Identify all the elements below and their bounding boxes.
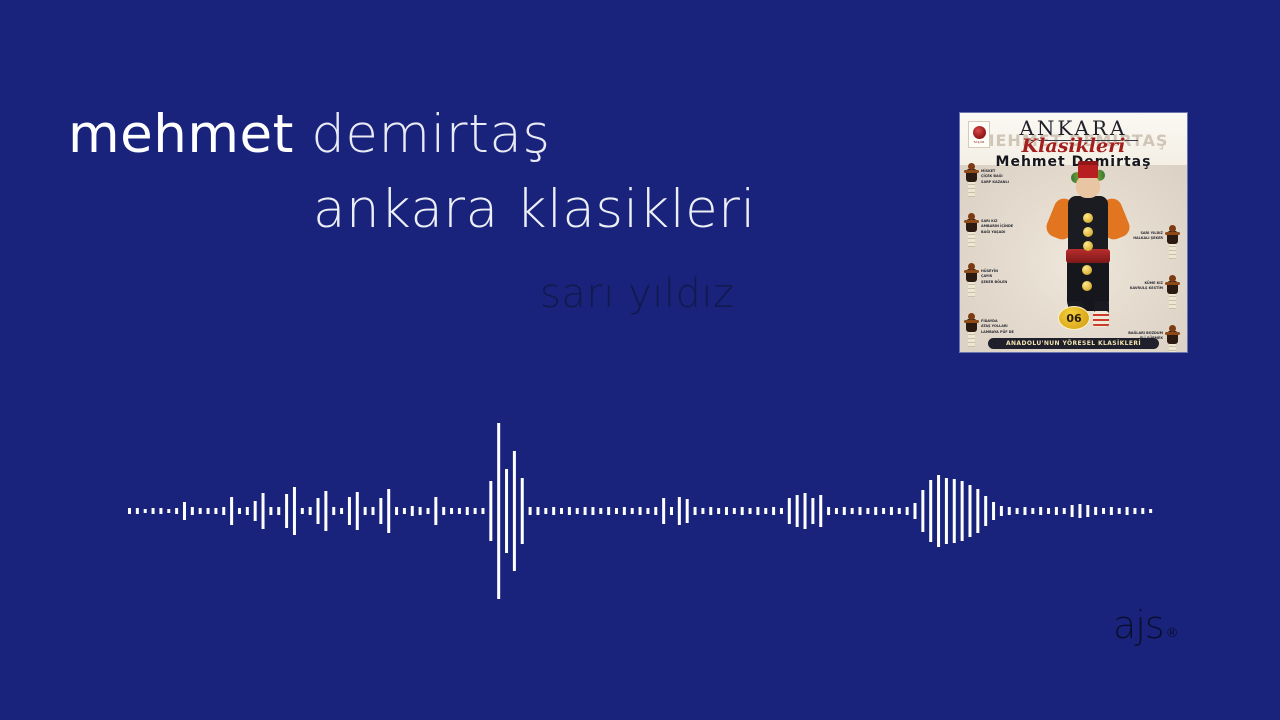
waveform-bar	[756, 507, 759, 515]
track-title: sarı yıldız	[0, 274, 800, 314]
waveform-bar	[317, 498, 320, 524]
waveform-bar	[1102, 508, 1105, 514]
mini-dancer-icon	[964, 263, 979, 297]
album-art-track-entry: MİSKETÇİÇEK BAĞISARP KAZANLI	[964, 163, 1026, 197]
dancer-head	[1076, 175, 1100, 198]
waveform-bar	[733, 508, 736, 514]
waveform-bar	[207, 508, 210, 514]
waveform-bar	[222, 507, 225, 515]
brand-logo-text: ajs	[1113, 606, 1164, 644]
album-art-tracklist-right: SARI YILDIZHALKALI ŞEKERKÜME KIZKAVRULŞ …	[1116, 225, 1182, 352]
dancer-coin-icon	[1083, 213, 1093, 223]
waveform-bar	[937, 475, 940, 547]
dancer-coin-icon	[1082, 281, 1092, 291]
dancer-fez-top	[1078, 161, 1098, 165]
waveform-bar	[536, 507, 539, 515]
waveform-bar	[804, 493, 807, 529]
waveform-bar	[1000, 506, 1003, 516]
waveform-bar	[843, 507, 846, 515]
waveform-bar	[662, 498, 665, 524]
waveform-bar	[780, 508, 783, 514]
waveform-bar	[607, 507, 610, 515]
album-art-track-text: SARI YILDIZHALKALI ŞEKER	[1133, 225, 1165, 242]
waveform-bar	[552, 507, 555, 515]
artist-name-line: mehmet demirtaş	[0, 108, 800, 161]
album-art-track-text: HÜSEYİNÇAYIRŞEKER BÖLEN	[981, 263, 1007, 285]
waveform-bar	[434, 497, 437, 525]
dancer-fez	[1078, 163, 1098, 178]
waveform-bar	[136, 508, 139, 514]
waveform-bar	[945, 478, 948, 544]
waveform-bar	[340, 508, 343, 514]
waveform-bar	[866, 508, 869, 514]
waveform-bar	[725, 507, 728, 515]
waveform-bar	[159, 508, 162, 514]
mini-dancer-icon	[1165, 325, 1180, 352]
waveform-bar	[513, 451, 516, 571]
waveform-bar	[411, 506, 414, 516]
waveform-bar	[1110, 507, 1113, 515]
waveform-bar	[811, 498, 814, 524]
waveform-bar	[372, 507, 375, 515]
album-art-track-text: FİDAYDAATAŞ YOLLARILAMBAYA PÜF DE	[981, 313, 1014, 335]
waveform-bar	[701, 508, 704, 514]
waveform-bar	[474, 508, 477, 514]
waveform-bar	[694, 507, 697, 515]
waveform-bar	[395, 507, 398, 515]
waveform-bar	[576, 508, 579, 514]
waveform-bar	[505, 469, 508, 553]
waveform-bar	[1008, 507, 1011, 515]
waveform-bar	[277, 507, 280, 515]
waveform-bar	[466, 507, 469, 515]
album-art-track-entry: SARI YILDIZHALKALI ŞEKER	[1116, 225, 1182, 259]
dancer-coin-icon	[1083, 227, 1093, 237]
waveform-bar	[639, 507, 642, 515]
album-art-tracklist-left: MİSKETÇİÇEK BAĞISARP KAZANLISARI KIZAMBA…	[964, 163, 1026, 352]
album-art-track-entry: HÜSEYİNÇAYIRŞEKER BÖLEN	[964, 263, 1026, 297]
dancer-sash	[1066, 249, 1110, 263]
waveform-bar	[953, 479, 956, 543]
waveform-bar	[968, 485, 971, 537]
waveform-bar	[214, 508, 217, 514]
waveform-bar	[191, 507, 194, 515]
waveform-bar	[976, 489, 979, 533]
dancer-coin-icon	[1082, 265, 1092, 275]
waveform-bar	[1086, 505, 1089, 517]
waveform-bar	[1133, 508, 1136, 514]
waveform-bar	[827, 507, 830, 515]
waveform-bar	[450, 508, 453, 514]
waveform-bar-group	[128, 423, 1152, 599]
waveform-bar	[238, 508, 241, 514]
waveform-bar	[1039, 507, 1042, 515]
waveform-bar	[489, 481, 492, 541]
waveform-bar	[835, 508, 838, 514]
waveform-bar	[599, 508, 602, 514]
waveform-bar	[199, 508, 202, 514]
waveform-bar	[301, 508, 304, 514]
waveform-bar	[419, 507, 422, 515]
waveform-bar	[717, 508, 720, 514]
album-art-track-text: KÜME KIZKAVRULŞ KESTİM	[1130, 275, 1165, 292]
waveform-bar	[1126, 507, 1129, 515]
waveform-bar	[364, 507, 367, 515]
waveform-bar	[1016, 508, 1019, 514]
waveform-bar	[293, 487, 296, 535]
waveform-bar	[128, 508, 131, 514]
registered-trademark-icon: ®	[1166, 626, 1179, 641]
waveform-bar	[387, 489, 390, 533]
waveform-bar	[686, 499, 689, 523]
artist-last-name: demirtaş	[311, 104, 550, 165]
album-art-track-entry: SARI KIZAMBARIN İÇİNDEBAĞI YAŞADI	[964, 213, 1026, 247]
mini-dancer-icon	[964, 213, 979, 247]
album-art-track-entry: KÜME KIZKAVRULŞ KESTİM	[1116, 275, 1182, 309]
waveform-bar	[1063, 508, 1066, 514]
waveform-bar	[921, 490, 924, 532]
player-stage: mehmet demirtaş ankara klasikleri sarı y…	[0, 0, 1280, 720]
brand-logo[interactable]: ajs ®	[1113, 606, 1179, 644]
waveform-bar	[144, 509, 147, 513]
album-art-bottom-banner: ANADOLU'NUN YÖRESEL KLASİKLERİ	[988, 338, 1159, 349]
waveform-bar	[788, 498, 791, 524]
album-art-track-text: SARI KIZAMBARIN İÇİNDEBAĞI YAŞADI	[981, 213, 1013, 235]
waveform-bar	[458, 508, 461, 514]
waveform-bar	[772, 507, 775, 515]
waveform-bar	[309, 507, 312, 515]
mini-dancer-icon	[1165, 225, 1180, 259]
waveform-bar	[914, 503, 917, 519]
waveform-bar	[749, 508, 752, 514]
album-art-track-text: MİSKETÇİÇEK BAĞISARP KAZANLI	[981, 163, 1009, 185]
waveform-bar	[167, 509, 170, 513]
waveform-bar	[497, 423, 500, 599]
dancer-sock	[1093, 311, 1109, 327]
waveform-bar	[1071, 505, 1074, 517]
waveform-bar	[442, 507, 445, 515]
waveform-bar	[741, 507, 744, 515]
waveform-bar	[631, 508, 634, 514]
waveform-bar	[544, 508, 547, 514]
mini-dancer-icon	[964, 163, 979, 197]
waveform-bar	[984, 496, 987, 526]
waveform-bar	[819, 495, 822, 527]
waveform-bar	[874, 507, 877, 515]
waveform-bar	[246, 507, 249, 515]
waveform-bar	[356, 492, 359, 530]
waveform-bar	[1118, 508, 1121, 514]
waveform-bar	[285, 494, 288, 528]
waveform-bar	[796, 495, 799, 527]
waveform-bar	[175, 508, 178, 514]
waveform-bar	[403, 508, 406, 514]
waveform-bar	[764, 508, 767, 514]
waveform-bar	[890, 507, 893, 515]
waveform-bar	[670, 507, 673, 515]
album-art-disc-number: 06	[1058, 306, 1090, 330]
waveform-bar	[1141, 508, 1144, 514]
waveform-bar	[898, 508, 901, 514]
waveform-bar	[678, 497, 681, 525]
title-block: mehmet demirtaş ankara klasikleri sarı y…	[0, 108, 800, 314]
waveform-bar	[882, 508, 885, 514]
waveform-bar	[348, 497, 351, 525]
artist-first-name: mehmet	[68, 104, 294, 165]
waveform-bar	[623, 507, 626, 515]
waveform-bar	[1023, 507, 1026, 515]
waveform-bar	[426, 508, 429, 514]
waveform-bar	[481, 508, 484, 514]
waveform-bar	[1078, 504, 1081, 518]
waveform-bar	[615, 508, 618, 514]
waveform-bar	[152, 508, 155, 514]
waveform-bar	[961, 481, 964, 541]
dancer-coin-icon	[1083, 241, 1093, 251]
waveform-bar	[709, 507, 712, 515]
waveform-bar	[568, 507, 571, 515]
waveform-bar	[262, 493, 265, 529]
waveform-bar	[560, 508, 563, 514]
waveform-bar	[1047, 508, 1050, 514]
waveform-bar	[851, 508, 854, 514]
album-title: ankara klasikleri	[0, 183, 800, 236]
waveform-bar	[992, 502, 995, 520]
waveform-bar	[269, 507, 272, 515]
waveform-bar	[906, 507, 909, 515]
waveform-bar	[1031, 508, 1034, 514]
waveform-bar	[1149, 509, 1152, 513]
waveform-bar	[654, 507, 657, 515]
waveform-bar	[324, 491, 327, 531]
waveform-bar	[591, 507, 594, 515]
waveform-bar	[332, 507, 335, 515]
waveform-bar	[859, 507, 862, 515]
mini-dancer-icon	[964, 313, 979, 347]
waveform-bar	[529, 507, 532, 515]
waveform-bar	[929, 480, 932, 542]
waveform-bar	[1055, 507, 1058, 515]
waveform-bar	[254, 501, 257, 521]
waveform-bar	[584, 507, 587, 515]
waveform-bar	[183, 502, 186, 520]
mini-dancer-icon	[1165, 275, 1180, 309]
waveform-bar	[230, 497, 233, 525]
waveform-bar	[521, 478, 524, 544]
waveform-bar	[379, 498, 382, 524]
waveform-bar	[1094, 507, 1097, 515]
album-cover-art[interactable]: MEHMET DEMIRTAŞ TAŞ/IR ANKARA Klasikleri…	[960, 113, 1187, 352]
waveform-bar	[646, 508, 649, 514]
